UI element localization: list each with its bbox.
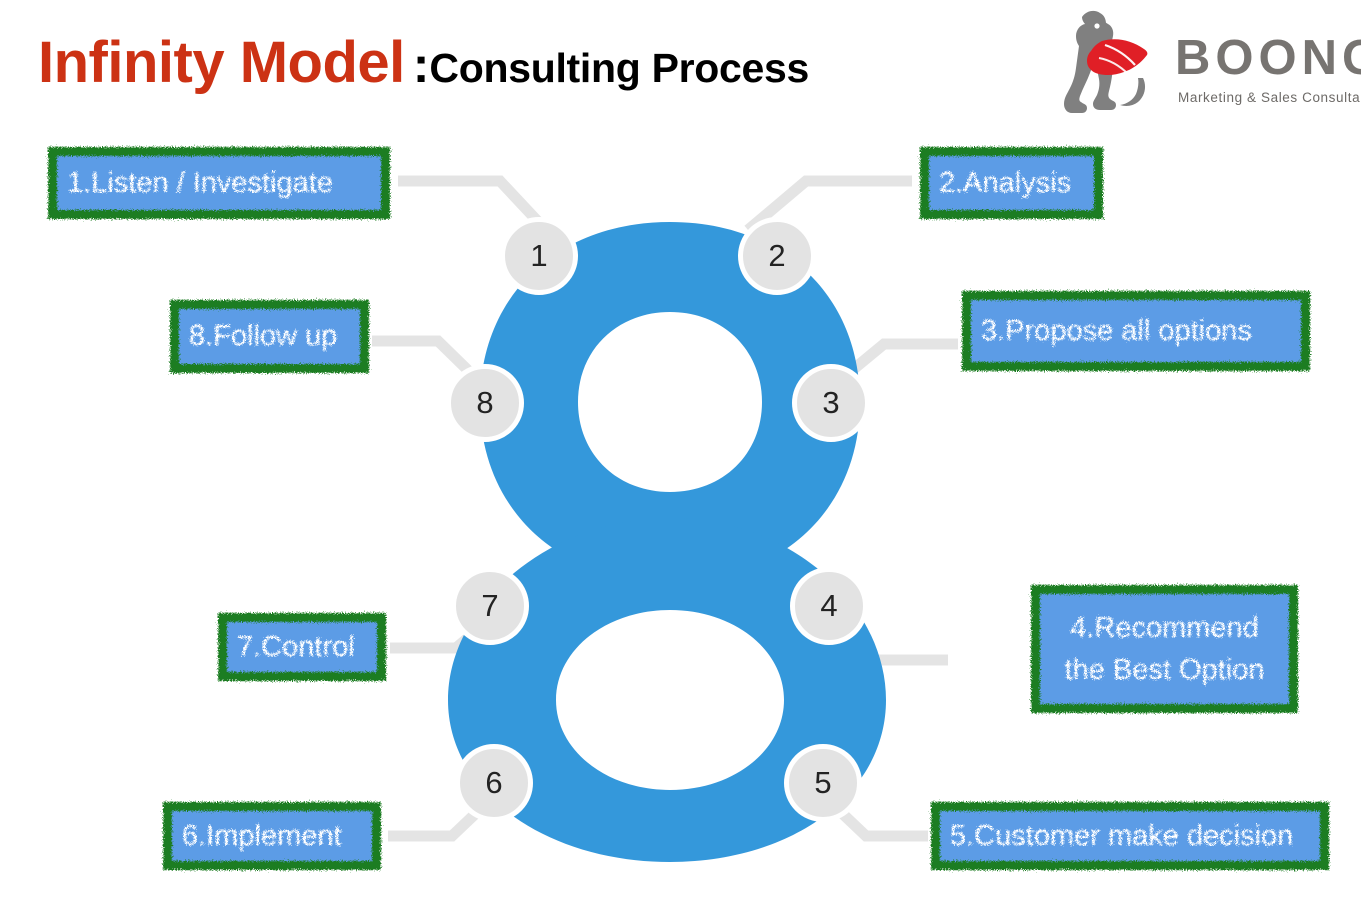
label-line: 3.Propose all options [981,310,1252,352]
label-box-step-3[interactable]: 3.Propose all options [962,291,1310,371]
label-box-step-8[interactable]: 8.Follow up [170,300,369,373]
label-line: 5.Customer make decision [950,815,1293,857]
label-line: 4.Recommend [1070,607,1259,649]
label-line: 8.Follow up [189,315,337,357]
label-box-step-4[interactable]: 4.Recommend the Best Option [1031,585,1298,713]
step-node-1[interactable]: 1 [500,217,578,295]
label-box-step-2[interactable]: 2.Analysis [920,147,1103,219]
label-box-step-1[interactable]: 1.Listen / Investigate [48,147,390,219]
label-box-step-6[interactable]: 6.Implement [163,802,381,870]
step-node-6[interactable]: 6 [455,744,533,822]
label-line: 6.Implement [182,815,342,857]
step-node-2[interactable]: 2 [738,217,816,295]
label-line: 7.Control [237,626,355,668]
infinity-model-diagram: 1 2 3 4 5 6 7 8 1.Listen / Investigate 2… [0,0,1361,912]
figure-eight-shape [0,0,1361,912]
step-node-4[interactable]: 4 [790,567,868,645]
step-node-7[interactable]: 7 [451,567,529,645]
label-line: 1.Listen / Investigate [67,162,333,204]
step-node-3[interactable]: 3 [792,364,870,442]
slide-canvas: Infinity Model:Consulting Process BOONG … [0,0,1361,912]
label-box-step-5[interactable]: 5.Customer make decision [931,802,1329,870]
label-box-step-7[interactable]: 7.Control [218,613,386,681]
step-node-8[interactable]: 8 [446,364,524,442]
step-node-5[interactable]: 5 [784,744,862,822]
label-line: the Best Option [1065,649,1265,691]
label-line: 2.Analysis [939,162,1071,204]
